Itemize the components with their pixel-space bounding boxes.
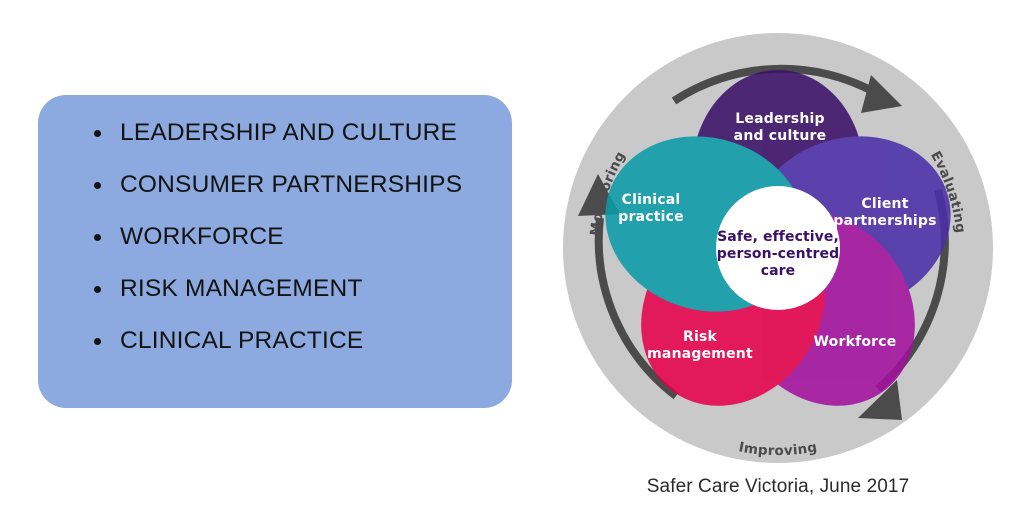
petal-label-line1: Client [861,196,908,212]
list-item: CONSUMER PARTNERSHIPS [94,173,512,198]
core-label-line2: person-centred [717,246,839,262]
petal-label-clinical-practice: Clinical practice [618,192,684,225]
petal-label-line2: management [647,346,753,362]
petal-label-line2: and culture [734,128,827,144]
core-label-line3: care [761,263,796,279]
petal-label-leadership-and-culture: Leadership and culture [734,111,827,144]
petal-label-line2: partnerships [833,213,936,229]
framework-diagram: Monitoring Evaluating Improving [558,28,998,468]
domains-list: LEADERSHIP AND CULTURE CONSUMER PARTNERS… [38,95,512,354]
domains-card: LEADERSHIP AND CULTURE CONSUMER PARTNERS… [38,95,512,408]
core-label-line1: Safe, effective, [717,229,839,245]
diagram-caption: Safer Care Victoria, June 2017 [558,476,998,498]
list-item: WORKFORCE [94,225,512,250]
list-item: RISK MANAGEMENT [94,277,512,302]
list-item: LEADERSHIP AND CULTURE [94,121,512,146]
list-item: CLINICAL PRACTICE [94,329,512,354]
petal-label-line1: Leadership [735,111,824,127]
petal-label-workforce: Workforce [814,334,897,350]
petal-label-line2: practice [618,209,684,225]
petal-label-line1: Workforce [814,334,897,350]
petal-label-line1: Clinical [622,192,681,208]
petal-label-line1: Risk [683,329,718,345]
